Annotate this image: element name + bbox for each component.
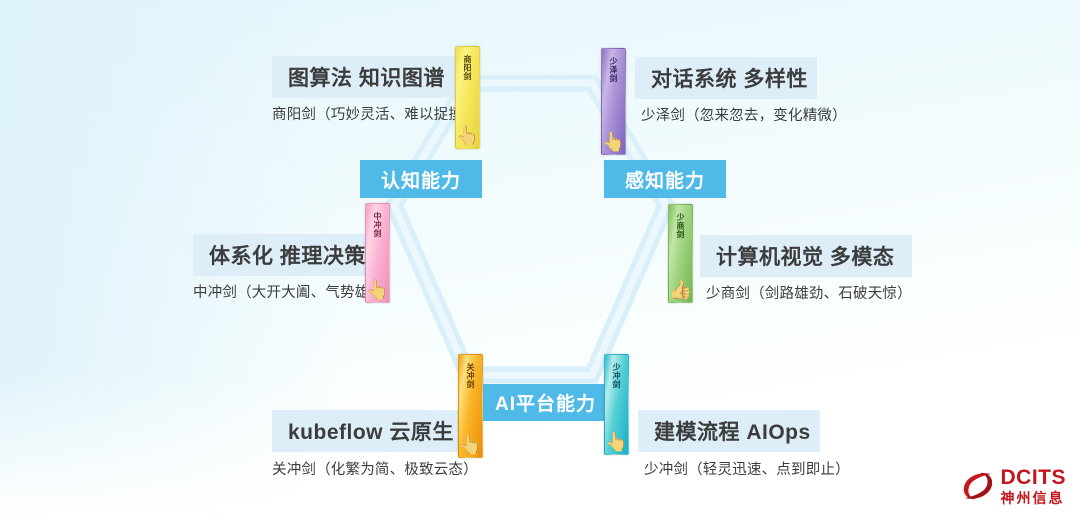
logo-text-en: DCITS <box>1001 467 1067 488</box>
node-subtitle-mid-right: 少商剑（剑路雄劲、石破天惊） <box>706 282 912 303</box>
sword-bar-bottom-right: 少冲剑 👆 <box>604 354 629 455</box>
node-title-box-top-right: 对话系统 多样性 <box>635 57 817 99</box>
sword-bar-bottom-left: 关冲剑 👆 <box>458 354 483 458</box>
pointing-left-hand-icon: 👆 <box>602 133 626 152</box>
capability-label-perceptual: 感知能力 <box>604 160 726 198</box>
node-subtitle-top-left: 商阳剑（巧妙灵活、难以捉摸） <box>272 103 478 124</box>
node-subtitle-bottom-right: 少冲剑（轻灵迅速、点到即止） <box>644 458 850 479</box>
node-subtitle-bottom-left: 关冲剑（化繁为简、极致云态） <box>272 458 478 479</box>
node-title-box-mid-left: 体系化 推理决策 <box>193 234 388 276</box>
sword-label-bottom-right: 少冲剑 <box>612 363 621 389</box>
logo-text-cn: 神州信息 <box>1001 491 1067 505</box>
pointing-up-hand-icon: 👆 <box>456 127 480 146</box>
sword-label-bottom-left: 关冲剑 <box>466 363 475 389</box>
sword-bar-top-left: 商阳剑 👆 <box>455 46 480 149</box>
company-logo: DCITS 神州信息 <box>961 467 1067 505</box>
sword-label-mid-right: 少商剑 <box>676 213 685 239</box>
sword-label-top-left: 商阳剑 <box>463 55 472 81</box>
node-title-box-top-left: 图算法 知识图谱 <box>272 56 467 98</box>
diagram-canvas: 图算法 知识图谱 商阳剑（巧妙灵活、难以捉摸） 商阳剑 👆 少泽剑 👆 对话系统… <box>0 0 1080 519</box>
sword-label-mid-left: 中冲剑 <box>373 212 382 238</box>
pointing-right-hand-icon: 👆 <box>366 281 390 300</box>
pointing-up-hand-icon: 👆 <box>459 436 483 455</box>
sword-bar-mid-right: 少商剑 👍 <box>668 204 693 303</box>
sword-bar-mid-left: 中冲剑 👆 <box>365 203 390 303</box>
node-title-top-right: 对话系统 多样性 <box>651 63 808 93</box>
node-title-box-bottom-left: kubeflow 云原生 <box>272 410 467 452</box>
node-title-bottom-left: kubeflow 云原生 <box>288 416 454 446</box>
node-title-bottom-right: 建模流程 AIOps <box>654 416 811 446</box>
node-title-mid-right: 计算机视觉 多模态 <box>716 241 894 271</box>
pointing-up-hand-icon: 👆 <box>605 433 629 452</box>
capability-label-platform: AI平台能力 <box>483 384 608 421</box>
node-title-box-bottom-right: 建模流程 AIOps <box>638 410 820 452</box>
thumbs-up-hand-icon: 👍 <box>669 281 693 300</box>
node-title-mid-left: 体系化 推理决策 <box>209 240 366 270</box>
sword-bar-top-right: 少泽剑 👆 <box>601 48 626 155</box>
dcits-swirl-icon <box>961 469 995 503</box>
node-subtitle-top-right: 少泽剑（忽来忽去，变化精微） <box>641 104 847 125</box>
node-title-top-left: 图算法 知识图谱 <box>288 62 445 92</box>
capability-label-cognitive: 认知能力 <box>360 160 482 198</box>
logo-wordmark: DCITS 神州信息 <box>1001 467 1067 505</box>
node-title-box-mid-right: 计算机视觉 多模态 <box>700 235 912 277</box>
sword-label-top-right: 少泽剑 <box>609 57 618 83</box>
